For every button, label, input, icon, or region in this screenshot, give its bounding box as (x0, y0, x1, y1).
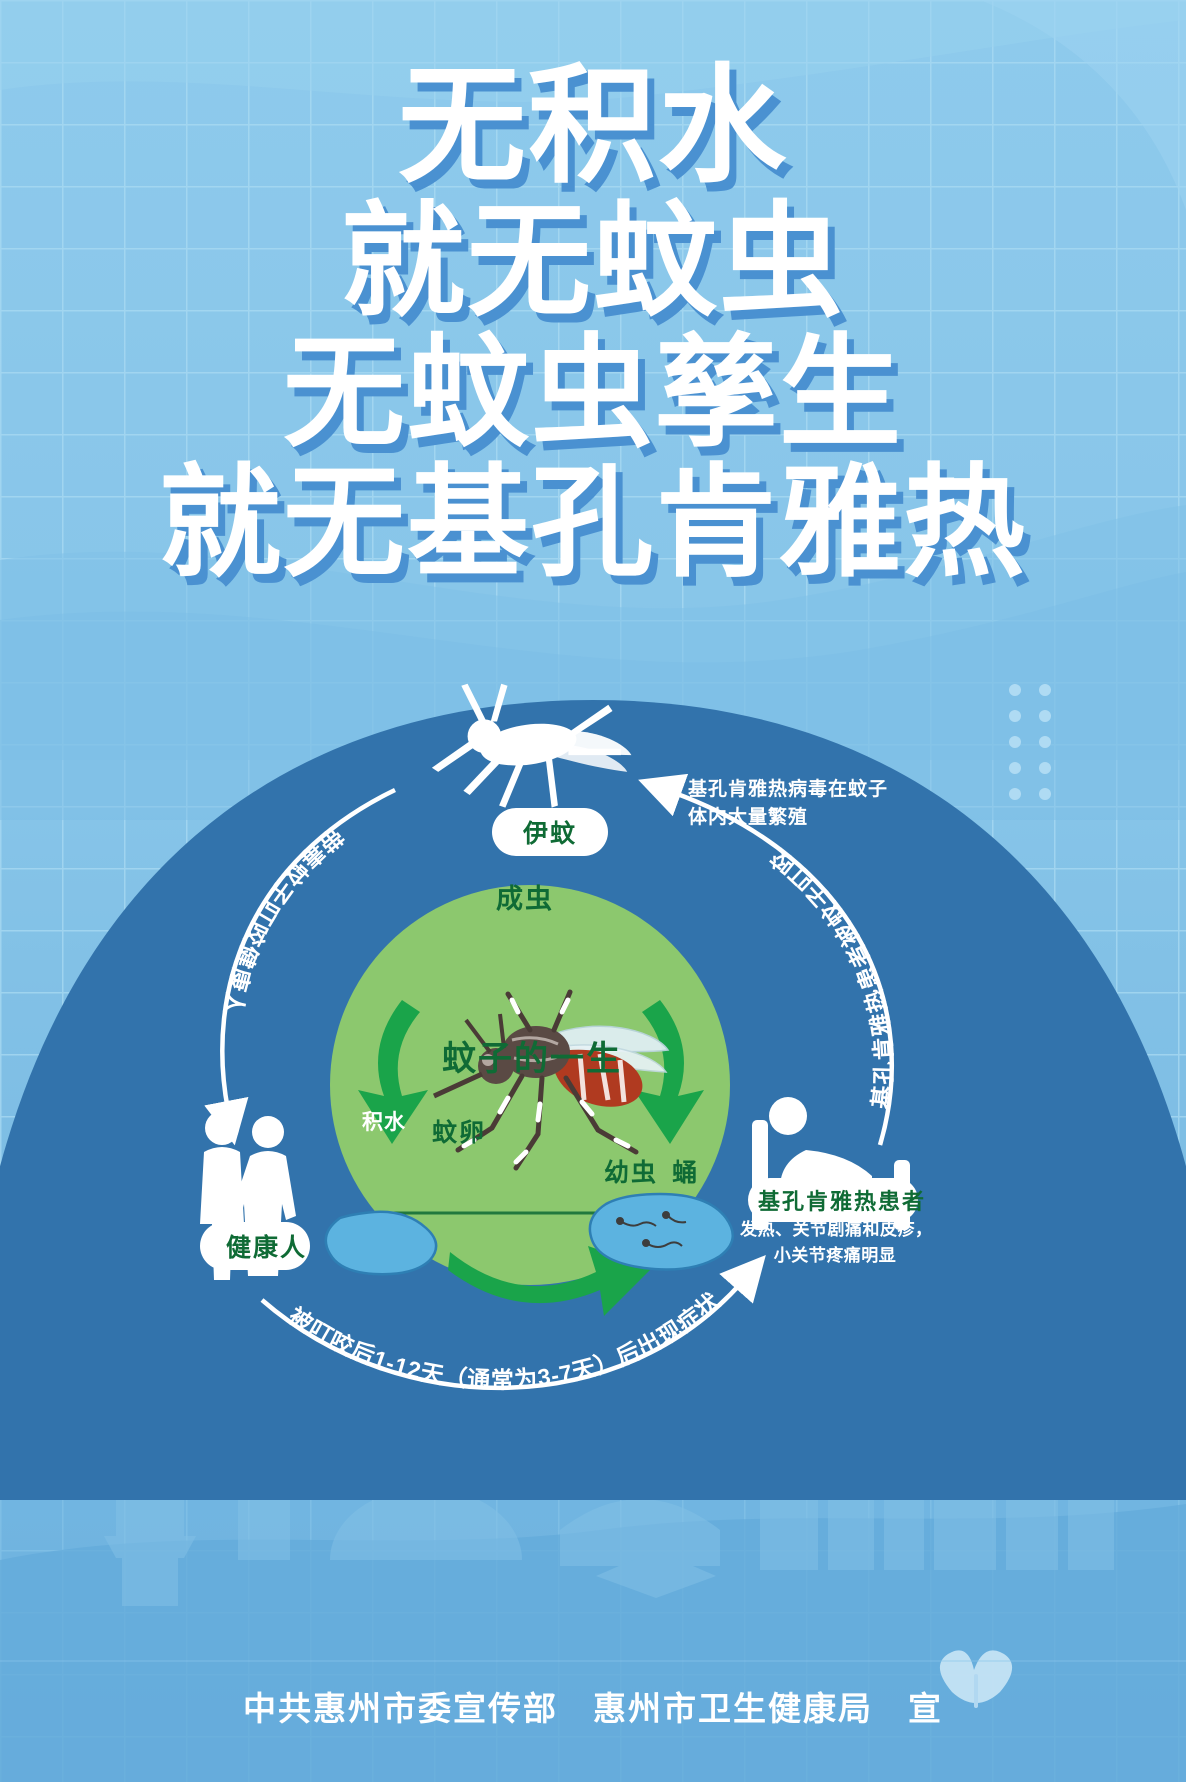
lifecycle-title: 蚊子的一生 (442, 1031, 622, 1080)
adult-stage-label: 成虫 (496, 877, 554, 916)
larva-pupa-pond (590, 1194, 733, 1270)
larva-stage-label: 幼虫 (604, 1153, 658, 1189)
virus-note-line-2: 体内大量繁殖 (688, 804, 888, 832)
poster-footer: 中共惠州市委宣传部 惠州市卫生健康局 宣 (0, 1682, 1186, 1730)
virus-note-line-1: 基孔肯雅热病毒在蚊子 (688, 776, 888, 804)
stagnant-water-label: 积水 (362, 1106, 406, 1136)
virus-replication-note: 基孔肯雅热病毒在蚊子 体内大量繁殖 (688, 776, 888, 831)
patient-desc-line-2: 小关节疼痛明显 (740, 1244, 930, 1270)
patient-symptom-description: 发热、关节剧痛和皮疹， 小关节疼痛明显 (740, 1218, 930, 1269)
patient-label-pill: 基孔肯雅热患者 (748, 1178, 918, 1222)
healthy-person-label-pill: 健康人 (200, 1222, 310, 1270)
lifecycle-circle (326, 885, 733, 1316)
transmission-cycle-diagram: 带毒蚊子叮咬健康人 基孔肯雅热患者被蚊子叮咬 被叮咬后1-12天（通常为3-7天… (0, 0, 1186, 1782)
eggs-stage-label: 蚊卵 (432, 1113, 486, 1149)
patient-desc-line-1: 发热、关节剧痛和皮疹， (740, 1218, 930, 1244)
aedes-label-pill: 伊蚊 (492, 808, 608, 856)
pupa-stage-label: 蛹 (672, 1153, 699, 1189)
